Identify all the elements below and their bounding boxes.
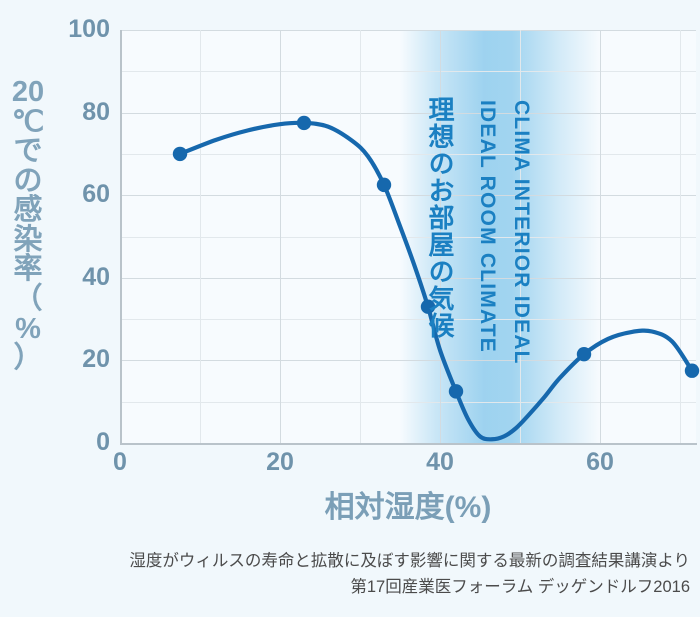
x-axis-title: 相対湿度(%) (120, 482, 696, 526)
gridline-h-50 (120, 237, 696, 238)
x-tick-label-40: 40 (410, 450, 470, 475)
y-tick-label-80: 80 (48, 100, 110, 125)
y-axis-title: 20℃での感染率（%） (6, 78, 50, 374)
y-axis-title-char-6: 率 (6, 255, 50, 285)
gridline-h-100 (120, 30, 696, 31)
y-tick-label-40: 40 (48, 265, 110, 290)
y-axis-title-char-0: 20 (6, 78, 50, 108)
gridline-v-20 (280, 30, 281, 443)
y-axis-title-char-9: ） (6, 344, 50, 374)
gridline-v-60 (600, 30, 601, 443)
y-axis-title-char-5: 染 (6, 226, 50, 256)
caption-line-1: 湿度がウィルスの寿命と拡散に及ぼす影響に関する最新の調査結果講演より (0, 549, 690, 575)
gridline-h-10 (120, 402, 696, 403)
y-tick-label-60: 60 (48, 182, 110, 207)
source-caption: 湿度がウィルスの寿命と拡散に及ぼす影響に関する最新の調査結果講演より 第17回産… (0, 549, 690, 600)
y-tick-label-20: 20 (48, 347, 110, 372)
band-label-spanish: CLIMA INTERIOR IDEAL (511, 100, 532, 365)
gridline-h-60 (120, 195, 696, 196)
gridline-h-40 (120, 278, 696, 279)
y-axis-title-char-7: （ (6, 285, 50, 315)
band-label-japanese: 理想のお部屋の気候 (427, 96, 453, 339)
gridline-h-70 (120, 154, 696, 155)
x-axis-line (120, 443, 697, 445)
y-axis-title-char-8: % (6, 315, 50, 345)
gridline-h-90 (120, 71, 696, 72)
gridline-h-20 (120, 360, 696, 361)
y-tick-label-100: 100 (48, 17, 110, 42)
gridline-h-80 (120, 113, 696, 114)
caption-line-2: 第17回産業医フォーラム デッゲンドルフ2016 (0, 575, 690, 601)
infection-rate-humidity-chart: 100806040200 0204060 20℃での感染率（%） 相対湿度(%)… (0, 0, 700, 617)
x-tick-label-0: 0 (90, 450, 150, 475)
y-axis-title-char-4: 感 (6, 196, 50, 226)
band-label-english: IDEAL ROOM CLIMATE (477, 100, 498, 353)
y-axis-line (120, 30, 122, 444)
y-axis-title-char-2: で (6, 137, 50, 167)
x-tick-label-60: 60 (570, 450, 630, 475)
y-axis-title-char-1: ℃ (6, 108, 50, 138)
x-tick-label-20: 20 (250, 450, 310, 475)
gridline-v-10 (200, 30, 201, 443)
y-axis-title-char-3: の (6, 167, 50, 197)
plot-area (120, 30, 696, 443)
gridline-h-30 (120, 319, 696, 320)
gridline-v-30 (360, 30, 361, 443)
gridline-v-70 (680, 30, 681, 443)
